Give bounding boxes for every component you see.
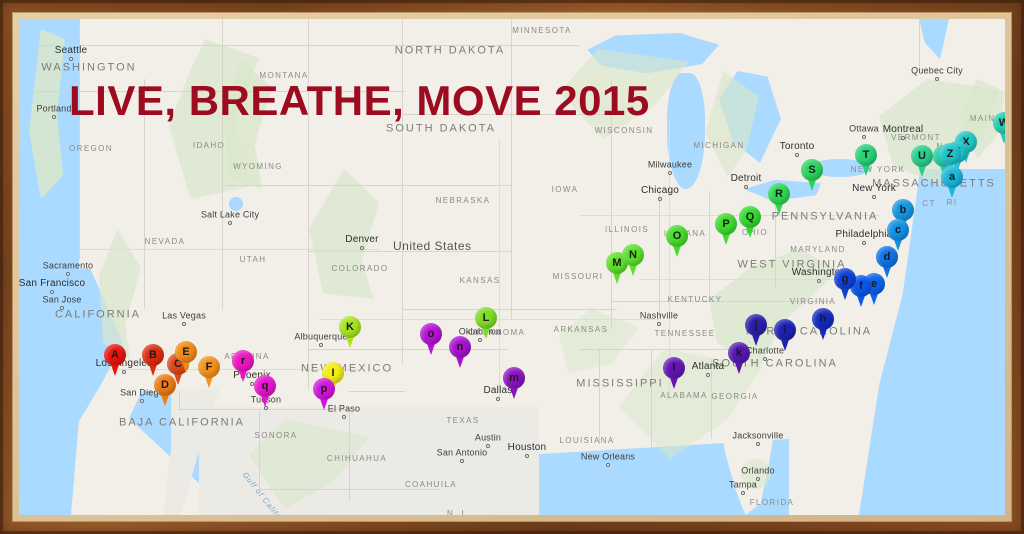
- marker-letter: l: [663, 357, 685, 379]
- marker-letter: p: [313, 378, 335, 400]
- map-marker-i[interactable]: i: [774, 319, 796, 351]
- city-dot: [744, 185, 748, 189]
- marker-letter: Z: [939, 143, 961, 165]
- city-label: Houston: [508, 443, 547, 453]
- city-dot: [319, 343, 323, 347]
- marker-letter: i: [774, 319, 796, 341]
- city-label: San Antonio: [437, 449, 488, 458]
- marker-letter: a: [941, 166, 963, 188]
- city-dot: [342, 415, 346, 419]
- map-marker-l[interactable]: l: [663, 357, 685, 389]
- country-label: United States: [393, 240, 472, 252]
- map-marker-Q[interactable]: Q: [739, 206, 761, 238]
- city-dot: [763, 357, 767, 361]
- city-label: Detroit: [731, 174, 762, 184]
- state-label: ILLINOIS: [605, 226, 649, 234]
- border-line: [259, 411, 260, 491]
- border-line: [659, 189, 660, 319]
- border-line: [349, 391, 405, 392]
- state-label: FLORIDA: [750, 499, 794, 507]
- state-label: RI: [947, 199, 958, 207]
- city-label: Las Vegas: [162, 312, 206, 321]
- city-label: Philadelphia: [836, 230, 893, 240]
- state-label: IDAHO: [193, 142, 225, 150]
- city-label: Portland: [36, 105, 71, 114]
- city-label: New Orleans: [581, 453, 635, 462]
- border-line: [179, 391, 180, 411]
- map-marker-k[interactable]: k: [728, 342, 750, 374]
- map-marker-m[interactable]: m: [503, 367, 525, 399]
- city-label: Toronto: [780, 142, 815, 152]
- state-label: WYOMING: [233, 163, 283, 171]
- marker-letter: m: [503, 367, 525, 389]
- city-label: Nashville: [640, 312, 678, 321]
- marker-letter: L: [475, 307, 497, 329]
- city-label: Sacramento: [43, 262, 94, 271]
- map-marker-q[interactable]: q: [254, 375, 276, 407]
- marker-letter: E: [175, 341, 197, 363]
- marker-letter: h: [812, 308, 834, 330]
- border-line: [222, 185, 512, 186]
- state-label: MISSOURI: [553, 273, 604, 281]
- city-dot: [756, 442, 760, 446]
- map-marker-T[interactable]: T: [855, 144, 877, 176]
- state-label: NEW MEXICO: [301, 364, 393, 375]
- marker-letter: U: [911, 145, 933, 167]
- marker-letter: d: [876, 246, 898, 268]
- map-marker-r[interactable]: r: [232, 350, 254, 382]
- map-marker-h[interactable]: h: [812, 308, 834, 340]
- highway: [79, 249, 379, 250]
- map-marker-S[interactable]: S: [801, 159, 823, 191]
- us-map[interactable]: WASHINGTONOREGONIDAHOMONTANANORTH DAKOTA…: [19, 19, 1005, 515]
- city-dot: [228, 221, 232, 225]
- city-dot: [935, 77, 939, 81]
- marker-letter: D: [154, 374, 176, 396]
- state-label: WISCONSIN: [595, 127, 654, 135]
- state-label: MISSISSIPPI: [576, 379, 663, 390]
- marker-letter: A: [104, 344, 126, 366]
- city-dot: [668, 171, 672, 175]
- map-marker-p[interactable]: p: [313, 378, 335, 410]
- city-dot: [66, 272, 70, 276]
- map-marker-B[interactable]: B: [142, 344, 164, 376]
- city-dot: [901, 136, 905, 140]
- marker-letter: F: [198, 356, 220, 378]
- city-dot: [741, 491, 745, 495]
- city-dot: [69, 57, 73, 61]
- state-label: TENNESSEE: [654, 330, 715, 338]
- map-marker-o[interactable]: o: [420, 323, 442, 355]
- state-label: SONORA: [254, 432, 297, 440]
- state-label: UTAH: [240, 256, 267, 264]
- city-dot: [606, 463, 610, 467]
- border-line: [709, 191, 710, 301]
- border-line: [599, 349, 600, 444]
- state-label: CHIHUAHUA: [327, 455, 387, 463]
- border-line: [402, 19, 403, 364]
- map-marker-F[interactable]: F: [198, 356, 220, 388]
- state-label: CT: [922, 200, 935, 208]
- marker-letter: o: [420, 323, 442, 345]
- border-line: [651, 349, 652, 449]
- picture-frame: WASHINGTONOREGONIDAHOMONTANANORTH DAKOTA…: [0, 0, 1024, 534]
- frame-mat: WASHINGTONOREGONIDAHOMONTANANORTH DAKOTA…: [12, 12, 1012, 522]
- city-dot: [460, 459, 464, 463]
- marker-letter: O: [666, 225, 688, 247]
- city-dot: [360, 246, 364, 250]
- city-dot: [706, 373, 710, 377]
- city-label: Jacksonville: [733, 432, 784, 441]
- city-label: Milwaukee: [648, 161, 692, 170]
- city-label: Montreal: [883, 125, 924, 135]
- marker-letter: K: [339, 316, 361, 338]
- state-label: SOUTH DAKOTA: [386, 124, 496, 135]
- map-marker-A[interactable]: A: [104, 344, 126, 376]
- marker-letter: j: [745, 314, 767, 336]
- marker-letter: q: [254, 375, 276, 397]
- state-label: WASHINGTON: [41, 63, 136, 74]
- state-label: VIRGINIA: [790, 298, 836, 306]
- city-dot: [182, 322, 186, 326]
- city-dot: [872, 195, 876, 199]
- state-label: MINNESOTA: [512, 27, 572, 35]
- border-line: [511, 19, 512, 319]
- marker-letter: Q: [739, 206, 761, 228]
- map-marker-N[interactable]: N: [622, 244, 644, 276]
- state-label: IOWA: [552, 186, 579, 194]
- city-dot: [50, 290, 54, 294]
- map-marker-D[interactable]: D: [154, 374, 176, 406]
- highway: [499, 139, 500, 399]
- border-line: [402, 309, 617, 310]
- state-label: COAHUILA: [405, 481, 457, 489]
- city-label: Quebec City: [911, 67, 963, 76]
- marker-letter: k: [728, 342, 750, 364]
- state-label: OREGON: [69, 145, 113, 153]
- state-label: MICHIGAN: [693, 142, 744, 150]
- city-dot: [817, 279, 821, 283]
- marker-letter: g: [834, 268, 856, 290]
- page-title: LIVE, BREATHE, MOVE 2015: [69, 77, 650, 125]
- city-label: Chicago: [641, 186, 679, 196]
- city-dot: [60, 306, 64, 310]
- city-dot: [795, 153, 799, 157]
- marker-letter: W: [993, 112, 1005, 134]
- city-dot: [140, 399, 144, 403]
- marker-letter: P: [715, 213, 737, 235]
- map-marker-g[interactable]: g: [834, 268, 856, 300]
- map-marker-W[interactable]: W: [993, 112, 1005, 144]
- map-marker-a[interactable]: a: [941, 166, 963, 198]
- border-line: [308, 349, 508, 350]
- map-marker-E[interactable]: E: [175, 341, 197, 373]
- lake-michigan: [667, 73, 705, 189]
- city-dot: [496, 397, 500, 401]
- state-label: COLORADO: [332, 265, 389, 273]
- state-label: MARYLAND: [790, 246, 846, 254]
- city-label: Orlando: [741, 467, 774, 476]
- city-label: San Jose: [42, 296, 81, 305]
- state-label: KENTUCKY: [668, 296, 723, 304]
- city-dot: [862, 135, 866, 139]
- marker-letter: R: [768, 183, 790, 205]
- marker-letter: r: [232, 350, 254, 372]
- map-marker-R[interactable]: R: [768, 183, 790, 215]
- border-line: [259, 489, 439, 490]
- map-marker-P[interactable]: P: [715, 213, 737, 245]
- city-label: Seattle: [55, 46, 88, 56]
- map-marker-U[interactable]: U: [911, 145, 933, 177]
- map-marker-K[interactable]: K: [339, 316, 361, 348]
- state-label: NORTH DAKOTA: [395, 46, 505, 57]
- marker-letter: N: [622, 244, 644, 266]
- state-label: GEORGIA: [711, 393, 758, 401]
- state-label: BAJA CALIFORNIA: [119, 418, 245, 429]
- city-label: Denver: [345, 235, 378, 245]
- state-label: KANSAS: [460, 277, 501, 285]
- state-label: NEVADA: [145, 238, 186, 246]
- city-dot: [657, 322, 661, 326]
- border-line: [919, 19, 920, 71]
- map-marker-O[interactable]: O: [666, 225, 688, 257]
- map-marker-n[interactable]: n: [449, 336, 471, 368]
- city-label: New York: [852, 184, 896, 194]
- city-label: San Francisco: [19, 279, 85, 289]
- border-line: [222, 19, 223, 309]
- state-label: CALIFORNIA: [55, 310, 141, 321]
- marker-letter: c: [887, 219, 909, 241]
- city-label: Salt Lake City: [201, 211, 259, 220]
- marker-letter: T: [855, 144, 877, 166]
- marker-letter: S: [801, 159, 823, 181]
- city-label: Tampa: [729, 481, 757, 490]
- state-label: ALABAMA: [660, 392, 708, 400]
- map-marker-L[interactable]: L: [475, 307, 497, 339]
- city-label: Austin: [475, 434, 501, 443]
- marker-letter: B: [142, 344, 164, 366]
- marker-letter: n: [449, 336, 471, 358]
- city-dot: [52, 115, 56, 119]
- city-dot: [862, 241, 866, 245]
- state-label: NEBRASKA: [436, 197, 491, 205]
- city-dot: [525, 454, 529, 458]
- state-label: ARKANSAS: [554, 326, 609, 334]
- city-dot: [658, 197, 662, 201]
- state-label: LOUISIANA: [559, 437, 614, 445]
- city-label: Atlanta: [692, 362, 725, 372]
- marker-letter: b: [892, 199, 914, 221]
- state-label: TEXAS: [446, 417, 479, 425]
- state-label: N. L.: [447, 510, 471, 515]
- city-label: Ottawa: [849, 125, 879, 134]
- state-label: VERMONT: [891, 134, 941, 142]
